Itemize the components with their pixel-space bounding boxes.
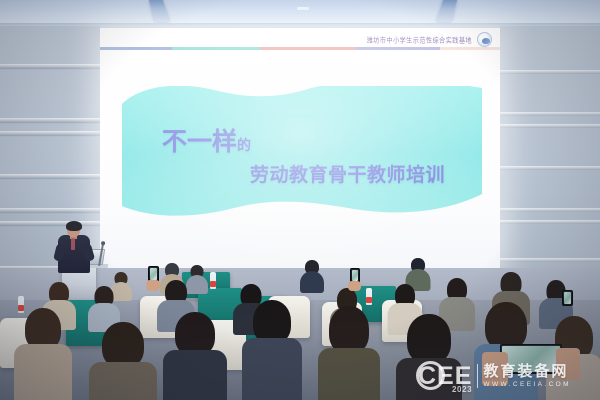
- presenter-lanyard: [71, 238, 75, 250]
- audience-member: [166, 312, 224, 400]
- audience-member: [300, 260, 324, 292]
- projection-screen: 潍坊市中小学生示范性综合实践基地: [100, 28, 500, 268]
- presenter-hair: [66, 221, 82, 231]
- ceiling-light: [297, 7, 309, 10]
- audience-member: [320, 306, 378, 400]
- audience-member: [398, 314, 460, 400]
- hand-holding-phone: [146, 280, 160, 291]
- audience-member: [92, 322, 154, 400]
- institution-logo: [477, 32, 492, 47]
- slide-header: 潍坊市中小学生示范性综合实践基地: [367, 32, 492, 47]
- hand-holding-phone: [348, 281, 361, 291]
- slide-wave-banner: [122, 86, 482, 221]
- conference-hall-photo: 潍坊市中小学生示范性综合实践基地: [0, 0, 600, 400]
- hand-holding-phone: [556, 348, 580, 380]
- water-bottle: [210, 272, 216, 289]
- ceiling-beam-right: [437, 0, 457, 22]
- slide-divider-bar: [100, 47, 500, 50]
- audience-member: [244, 300, 300, 400]
- water-bottle: [366, 288, 372, 305]
- smartphone-recording: [562, 290, 573, 306]
- presenter: [58, 222, 90, 272]
- ceiling-beam-left: [149, 0, 169, 22]
- hand-holding-phone: [482, 352, 508, 386]
- slide-header-text: 潍坊市中小学生示范性综合实践基地: [367, 34, 472, 44]
- audience-member: [16, 308, 70, 400]
- smartphone-recording: [500, 344, 562, 374]
